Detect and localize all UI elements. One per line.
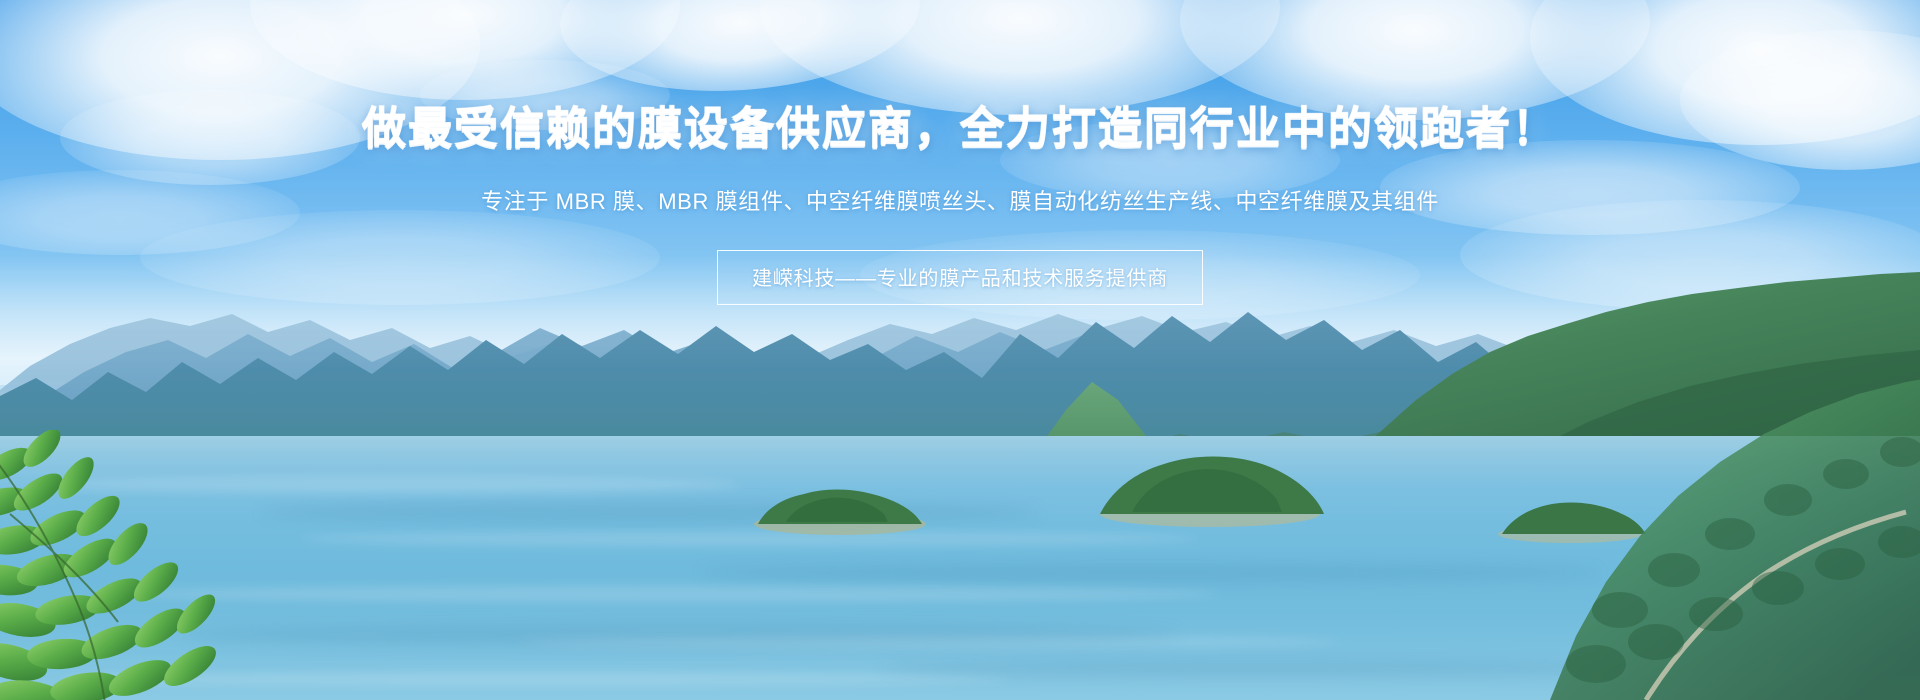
banner-text-overlay: 做最受信赖的膜设备供应商，全力打造同行业中的领跑者！ 专注于 MBR 膜、MBR… (0, 0, 1920, 700)
banner-tagline: 建嵘科技——专业的膜产品和技术服务提供商 (752, 268, 1168, 290)
hero-banner: 做最受信赖的膜设备供应商，全力打造同行业中的领跑者！ 专注于 MBR 膜、MBR… (0, 0, 1920, 700)
banner-headline: 做最受信赖的膜设备供应商，全力打造同行业中的领跑者！ (362, 106, 1558, 152)
banner-subtitle: 专注于 MBR 膜、MBR 膜组件、中空纤维膜喷丝头、膜自动化纺丝生产线、中空纤… (481, 184, 1439, 216)
banner-tagline-box: 建嵘科技——专业的膜产品和技术服务提供商 (717, 250, 1203, 305)
